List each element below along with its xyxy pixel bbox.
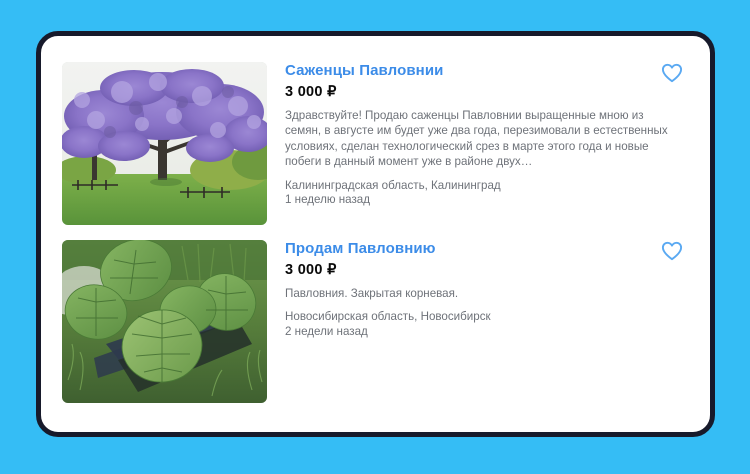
- listing-description: Павловния. Закрытая корневая.: [285, 286, 679, 301]
- listing-thumbnail[interactable]: [62, 62, 267, 225]
- list-item[interactable]: Продам Павловнию 3 000 ₽ Павловния. Закр…: [62, 240, 692, 403]
- listing-price: 3 000 ₽: [285, 262, 692, 279]
- heart-outline-icon: [661, 241, 683, 261]
- listing-details: Саженцы Павловнии 3 000 ₽ Здравствуйте! …: [267, 62, 692, 208]
- listing-title[interactable]: Саженцы Павловнии: [285, 62, 692, 80]
- listing-location: Калининградская область, Калининград: [285, 179, 692, 194]
- paulownia-tree-photo: [62, 62, 267, 225]
- listing-description: Здравствуйте! Продаю саженцы Павловнии в…: [285, 108, 679, 170]
- list-item[interactable]: Саженцы Павловнии 3 000 ₽ Здравствуйте! …: [62, 62, 692, 225]
- listing-thumbnail[interactable]: [62, 240, 267, 403]
- listings-card: Саженцы Павловнии 3 000 ₽ Здравствуйте! …: [36, 31, 715, 437]
- listing-details: Продам Павловнию 3 000 ₽ Павловния. Закр…: [267, 240, 692, 340]
- heart-outline-icon: [661, 63, 683, 83]
- paulownia-seedling-photo: [62, 240, 267, 403]
- listing-location: Новосибирская область, Новосибирск: [285, 310, 692, 325]
- favorite-button[interactable]: [661, 62, 683, 84]
- listing-price: 3 000 ₽: [285, 84, 692, 101]
- listing-title[interactable]: Продам Павловнию: [285, 240, 692, 258]
- favorite-button[interactable]: [661, 240, 683, 262]
- listing-date: 2 недели назад: [285, 325, 692, 340]
- listing-date: 1 неделю назад: [285, 193, 692, 208]
